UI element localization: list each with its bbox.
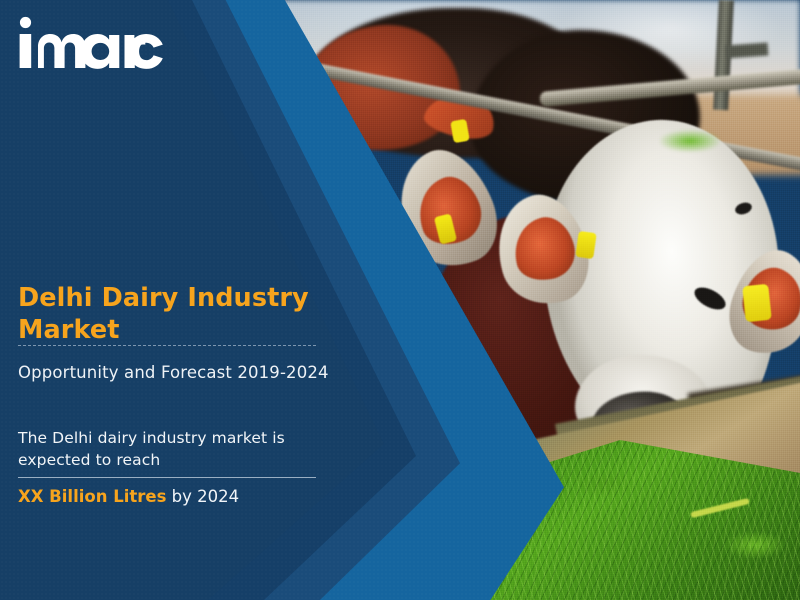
- cover-content: Delhi Dairy Industry Market Opportunity …: [0, 0, 360, 600]
- page-title: Delhi Dairy Industry Market: [18, 282, 318, 346]
- title-divider: [18, 345, 316, 346]
- imarc-wordmark-logo-icon: [16, 14, 166, 72]
- forecast-value: XX Billion Litres: [18, 487, 166, 506]
- forecast-highlight: XX Billion Litres by 2024: [18, 486, 348, 507]
- imarc-logo[interactable]: [16, 14, 166, 72]
- statement-divider: [18, 477, 316, 478]
- report-cover: Delhi Dairy Industry Market Opportunity …: [0, 0, 800, 600]
- forecast-year: by 2024: [166, 487, 239, 506]
- report-subtitle: Opportunity and Forecast 2019-2024: [18, 362, 348, 383]
- market-statement: The Delhi dairy industry market is expec…: [18, 427, 338, 471]
